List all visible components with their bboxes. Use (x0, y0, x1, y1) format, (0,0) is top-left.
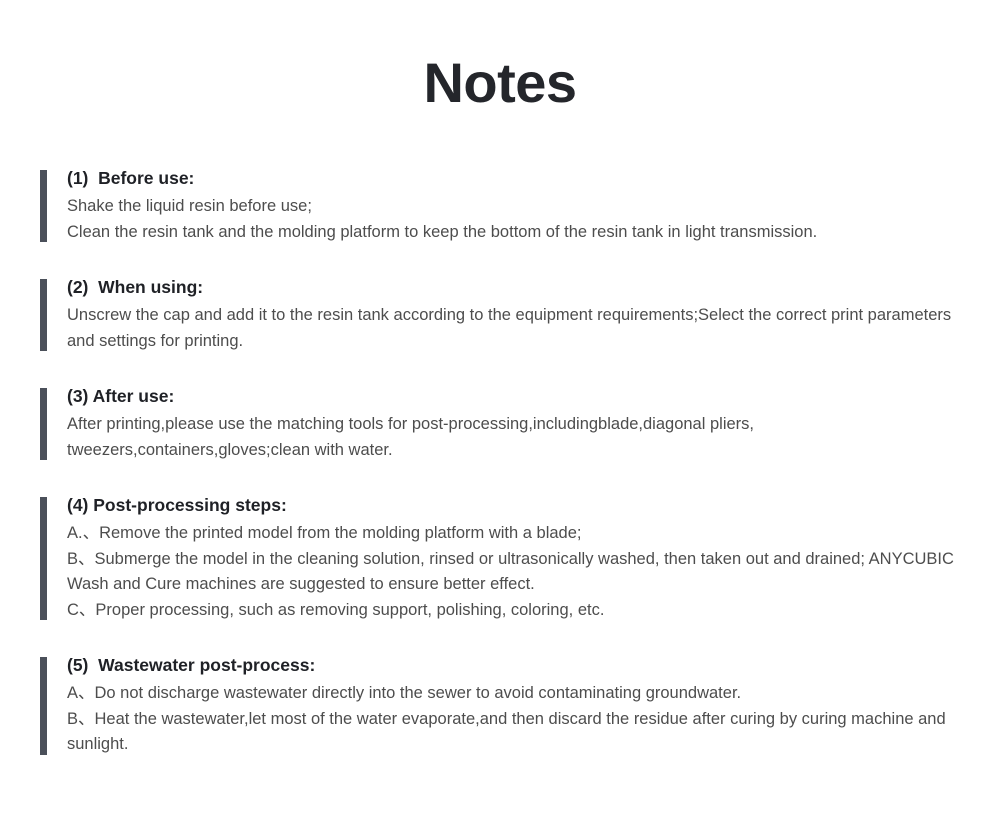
note-line: Unscrew the cap and add it to the resin … (67, 303, 976, 354)
note-section-when-using: (2) When using: Unscrew the cap and add … (40, 275, 976, 354)
accent-bar-icon (40, 170, 47, 242)
section-heading: (1) Before use: (67, 166, 976, 191)
note-section-wastewater-post-process: (5) Wastewater post-process: A、Do not di… (40, 653, 976, 758)
accent-bar-icon (40, 657, 47, 755)
note-line: B、Submerge the model in the cleaning sol… (67, 547, 976, 598)
section-body: Shake the liquid resin before use; Clean… (67, 194, 976, 245)
note-line: B、Heat the wastewater,let most of the wa… (67, 707, 976, 758)
note-line: After printing,please use the matching t… (67, 412, 976, 463)
note-section-after-use: (3) After use: After printing,please use… (40, 384, 976, 463)
note-section-before-use: (1) Before use: Shake the liquid resin b… (40, 166, 976, 245)
notes-section-list: (1) Before use: Shake the liquid resin b… (40, 166, 976, 758)
note-line: C、Proper processing, such as removing su… (67, 598, 976, 624)
accent-bar-icon (40, 388, 47, 460)
section-heading: (3) After use: (67, 384, 976, 409)
page-title: Notes (0, 0, 1000, 114)
note-line: Clean the resin tank and the molding pla… (67, 220, 976, 246)
accent-bar-icon (40, 279, 47, 351)
accent-bar-icon (40, 497, 47, 620)
note-line: A.、Remove the printed model from the mol… (67, 521, 976, 547)
section-body: Unscrew the cap and add it to the resin … (67, 303, 976, 354)
note-section-post-processing-steps: (4) Post-processing steps: A.、Remove the… (40, 493, 976, 623)
section-heading: (5) Wastewater post-process: (67, 653, 976, 678)
section-body: After printing,please use the matching t… (67, 412, 976, 463)
section-body: A、Do not discharge wastewater directly i… (67, 681, 976, 758)
section-heading: (4) Post-processing steps: (67, 493, 976, 518)
note-line: A、Do not discharge wastewater directly i… (67, 681, 976, 707)
notes-page: Notes (1) Before use: Shake the liquid r… (0, 0, 1000, 830)
note-line: Shake the liquid resin before use; (67, 194, 976, 220)
section-heading: (2) When using: (67, 275, 976, 300)
section-body: A.、Remove the printed model from the mol… (67, 521, 976, 623)
